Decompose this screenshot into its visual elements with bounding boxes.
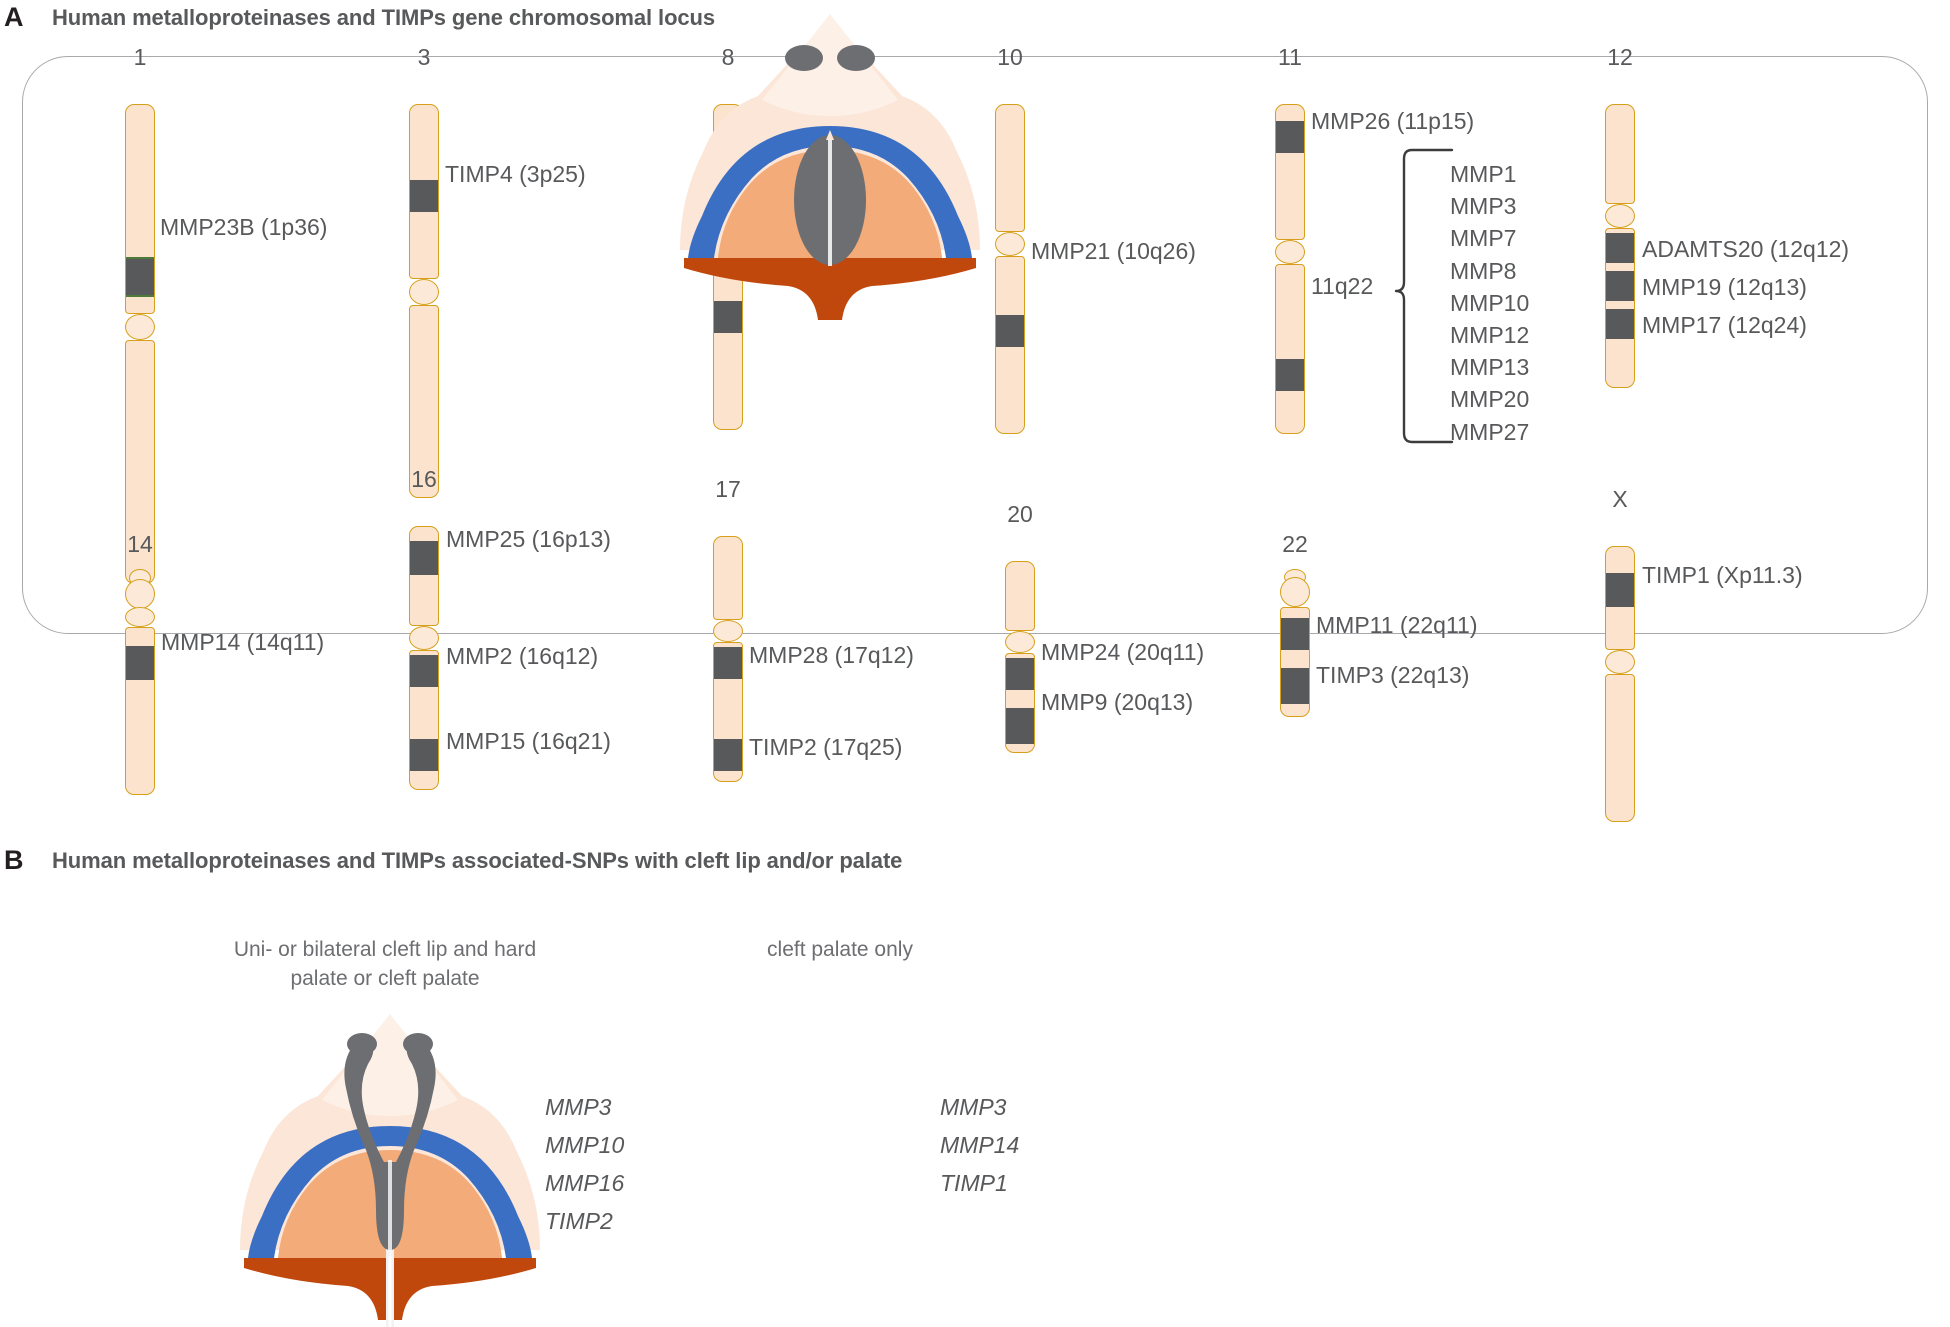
chromosome-3-centromere [409, 279, 439, 305]
figure-root: A Human metalloproteinases and TIMPs gen… [0, 0, 1950, 1327]
chromosome-16-q-arm [409, 650, 439, 790]
chromosome-11-gene-label-0: MMP26 (11p15) [1311, 110, 1474, 133]
chromosome-17-band-mmp28 [713, 647, 743, 679]
face-left-illustration [200, 1000, 580, 1327]
chromosome-14-band-mmp14 [125, 646, 155, 680]
chromosome-20-number: 20 [1007, 501, 1033, 528]
panel-a-title: Human metalloproteinases and TIMPs gene … [52, 5, 715, 31]
chromosome-11-band-11q22 [1275, 359, 1305, 391]
chromosome-16-gene-label-2: MMP15 (16q21) [446, 730, 611, 753]
chromosome-20-p-arm [1005, 561, 1035, 631]
chromosome-16-band-mmp25 [409, 541, 439, 575]
chromosome-22-band-mmp11 [1280, 618, 1310, 650]
chromosome-16-centromere [409, 626, 439, 650]
chromosome-11-number: 11 [1278, 44, 1302, 71]
chromosome-17-p-arm [713, 536, 743, 620]
chromosome-12-band-mmp19 [1605, 271, 1635, 301]
brace-gene-6: MMP13 [1450, 351, 1529, 383]
chromosome-12-p-arm [1605, 104, 1635, 204]
chromosome-1-number: 1 [134, 44, 147, 71]
brace-gene-4: MMP10 [1450, 287, 1529, 319]
chromosome-16-gene-label-0: MMP25 (16p13) [446, 528, 611, 551]
chromosome-11: 11 [1275, 78, 1305, 478]
chromosome-3-band-timp4 [409, 180, 439, 212]
chromosome-3: 3 [409, 78, 439, 523]
chromosome-1-band-mmp23b [125, 257, 155, 297]
chromosome-x-centromere [1605, 650, 1635, 674]
chromosome-17-number: 17 [715, 476, 741, 503]
brace-gene-3: MMP8 [1450, 255, 1529, 287]
brace-gene-list: MMP1 MMP3 MMP7 MMP8 MMP10 MMP12 MMP13 MM… [1450, 158, 1529, 448]
chromosome-11-q-arm [1275, 264, 1305, 434]
chromosome-16-band-mmp2 [409, 655, 439, 687]
chromosome-20-band-mmp24 [1005, 658, 1035, 690]
chromosome-x-q-arm [1605, 674, 1635, 822]
face-left-caption: Uni- or bilateral cleft lip and hard pal… [150, 935, 620, 993]
chromosome-22-band-timp3 [1280, 668, 1310, 704]
brace-gene-7: MMP20 [1450, 383, 1529, 415]
chromosome-3-number: 3 [418, 44, 431, 71]
brace-gene-5: MMP12 [1450, 319, 1529, 351]
chromosome-x: X [1605, 520, 1635, 820]
chromosome-12-band-mmp17 [1605, 309, 1635, 339]
chromosome-3-p-arm [409, 104, 439, 279]
chromosome-16: 16 [409, 500, 439, 800]
chromosome-11-band-mmp26 [1275, 121, 1305, 153]
panel-b-title: Human metalloproteinases and TIMPs assoc… [52, 848, 902, 874]
chromosome-12-gene-label-0: ADAMTS20 (12q12) [1642, 238, 1849, 261]
chromosome-12-q-arm [1605, 228, 1635, 388]
chromosome-17-gene-label-0: MMP28 (17q12) [749, 644, 914, 667]
chromosome-14-number: 14 [127, 531, 153, 558]
chromosome-20-q-arm [1005, 653, 1035, 753]
chromosome-11-p-arm [1275, 104, 1305, 240]
chromosome-17-gene-label-1: TIMP2 (17q25) [749, 736, 902, 759]
chromosome-1: 1 [125, 78, 155, 523]
face-right-caption: cleft palate only [690, 935, 990, 964]
chromosome-x-gene-label-0: TIMP1 (Xp11.3) [1642, 564, 1803, 587]
brace-gene-0: MMP1 [1450, 158, 1529, 190]
chromosome-14-p-bulb [125, 579, 155, 609]
chromosome-1-centromere [125, 314, 155, 340]
chromosome-12-centromere [1605, 204, 1635, 228]
chromosome-16-band-mmp15 [409, 739, 439, 771]
brace-gene-2: MMP7 [1450, 222, 1529, 254]
chromosome-1-p-arm [125, 104, 155, 314]
chromosome-16-gene-label-1: MMP2 (16q12) [446, 645, 598, 668]
brace-gene-1: MMP3 [1450, 190, 1529, 222]
chromosome-11-gene-label-1: 11q22 [1311, 275, 1373, 298]
chromosome-3-gene-label-0: TIMP4 (3p25) [445, 163, 586, 186]
chromosome-x-band-timp1 [1605, 573, 1635, 607]
chromosome-22-number: 22 [1282, 531, 1308, 558]
face-right-gene-list: MMP3 MMP14 TIMP1 [940, 1088, 1019, 1202]
chromosome-12-number: 12 [1607, 44, 1633, 71]
face-right-illustration [640, 0, 1020, 330]
chromosome-17: 17 [713, 510, 743, 800]
chromosome-16-number: 16 [411, 466, 437, 493]
chromosome-20-gene-label-0: MMP24 (20q11) [1041, 641, 1204, 664]
chromosome-14-q-arm [125, 627, 155, 795]
chromosome-14-gene-label-0: MMP14 (14q11) [161, 631, 324, 654]
chromosome-20-centromere [1005, 631, 1035, 653]
chromosome-22-gene-label-1: TIMP3 (22q13) [1316, 664, 1469, 687]
panel-b-letter: B [4, 845, 24, 876]
chromosome-20: 20 [1005, 535, 1035, 785]
chromosome-20-band-mmp9 [1005, 708, 1035, 744]
chromosome-14-centromere [125, 607, 155, 627]
chromosome-10-gene-label-0: MMP21 (10q26) [1031, 240, 1196, 263]
chromosome-20-gene-label-1: MMP9 (20q13) [1041, 691, 1193, 714]
chromosome-22-q-arm [1280, 607, 1310, 717]
chromosome-x-number: X [1612, 486, 1627, 513]
chromosome-11-centromere [1275, 240, 1305, 264]
chromosome-17-q-arm [713, 642, 743, 782]
brace-gene-8: MMP27 [1450, 416, 1529, 448]
chromosome-16-p-arm [409, 526, 439, 626]
chromosome-17-band-timp2 [713, 739, 743, 771]
chromosome-17-centromere [713, 620, 743, 642]
chromosome-12-band-adamts20 [1605, 233, 1635, 263]
face-left-gene-list: MMP3 MMP10 MMP16 TIMP2 [545, 1088, 624, 1240]
chromosome-22-p-bulb [1280, 577, 1310, 607]
chromosome-1-gene-label-0: MMP23B (1p36) [160, 216, 327, 239]
chromosome-x-p-arm [1605, 546, 1635, 650]
chromosome-22: 22 [1280, 565, 1310, 765]
chromosome-12-gene-label-1: MMP19 (12q13) [1642, 276, 1807, 299]
chromosome-12: 12 [1605, 78, 1635, 418]
chromosome-14: 14 [125, 565, 155, 795]
chromosome-12-gene-label-2: MMP17 (12q24) [1642, 314, 1807, 337]
panel-a-letter: A [4, 2, 24, 33]
chromosome-22-gene-label-0: MMP11 (22q11) [1316, 614, 1478, 637]
